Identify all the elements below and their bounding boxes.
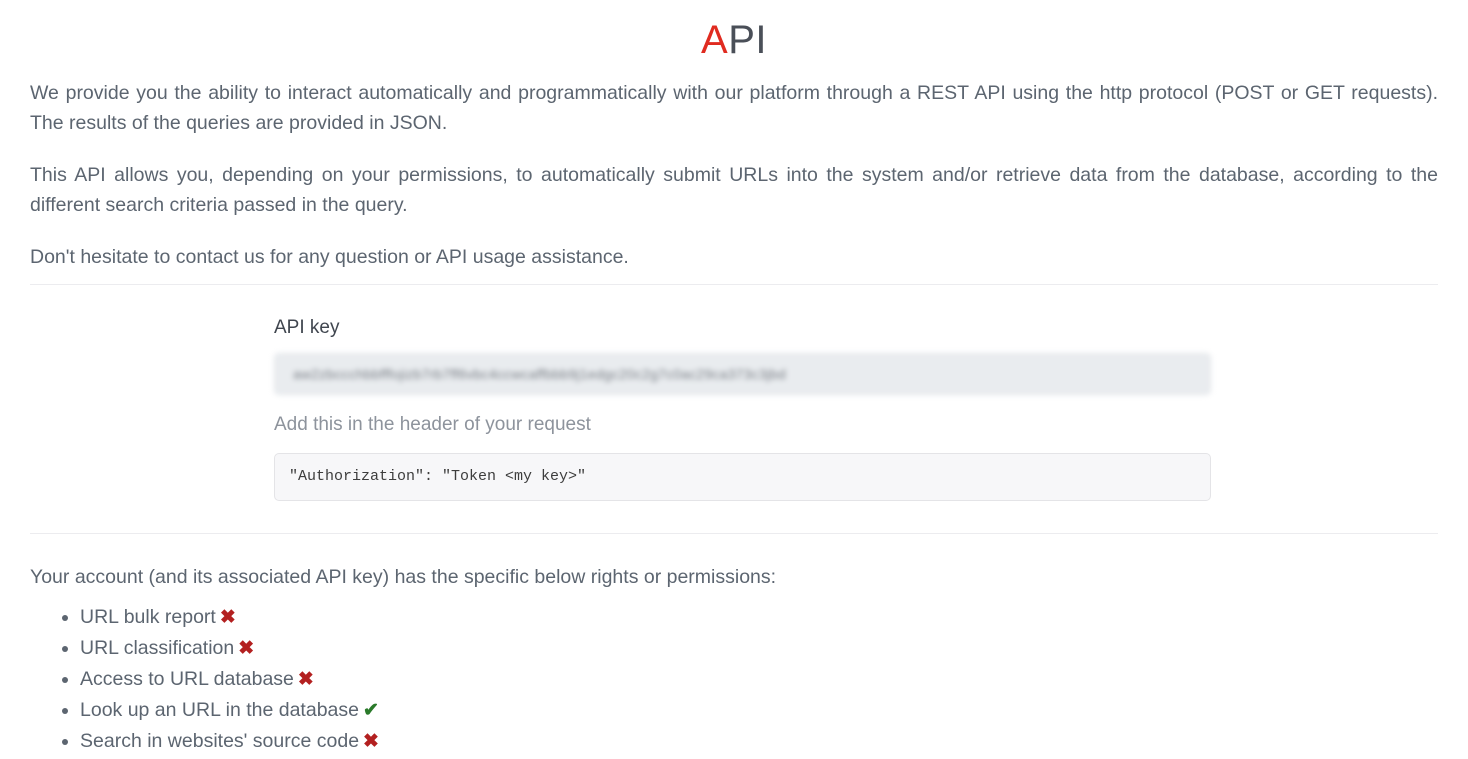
permission-label: Access to URL database	[80, 668, 294, 690]
page-title: API	[0, 0, 1468, 64]
intro-paragraph-2: This API allows you, depending on your p…	[30, 160, 1438, 220]
list-item: Access to URL database✖	[80, 664, 1438, 695]
permission-label: Look up an URL in the database	[80, 699, 359, 721]
cross-icon: ✖	[216, 603, 236, 633]
intro-section: We provide you the ability to interact a…	[30, 64, 1438, 272]
api-key-input[interactable]	[274, 353, 1211, 395]
list-item: URL classification✖	[80, 633, 1438, 664]
permission-label: URL bulk report	[80, 606, 216, 628]
list-item: Look up an URL in the database✔	[80, 695, 1438, 726]
cross-icon: ✖	[359, 727, 379, 757]
cross-icon: ✖	[294, 665, 314, 695]
api-key-section: API key Add this in the header of your r…	[0, 315, 1468, 501]
api-page: API We provide you the ability to intera…	[0, 0, 1468, 759]
divider-top	[30, 284, 1438, 285]
authorization-header-code: "Authorization": "Token <my key>"	[274, 453, 1211, 501]
intro-paragraph-1: We provide you the ability to interact a…	[30, 78, 1438, 138]
intro-paragraph-3: Don't hesitate to contact us for any que…	[30, 242, 1438, 272]
page-title-accent-letter: A	[701, 18, 728, 62]
page-title-rest: PI	[728, 18, 767, 62]
api-key-label: API key	[274, 315, 1211, 341]
check-icon: ✔	[359, 696, 379, 726]
permissions-lead-text: Your account (and its associated API key…	[30, 562, 1438, 592]
permissions-section: Your account (and its associated API key…	[30, 534, 1438, 757]
cross-icon: ✖	[234, 634, 254, 664]
list-item: URL bulk report✖	[80, 602, 1438, 633]
permissions-list: URL bulk report✖ URL classification✖ Acc…	[30, 602, 1438, 757]
permission-label: Search in websites' source code	[80, 730, 359, 752]
permission-label: URL classification	[80, 637, 234, 659]
api-key-help-text: Add this in the header of your request	[274, 411, 1211, 439]
list-item: Search in websites' source code✖	[80, 726, 1438, 757]
